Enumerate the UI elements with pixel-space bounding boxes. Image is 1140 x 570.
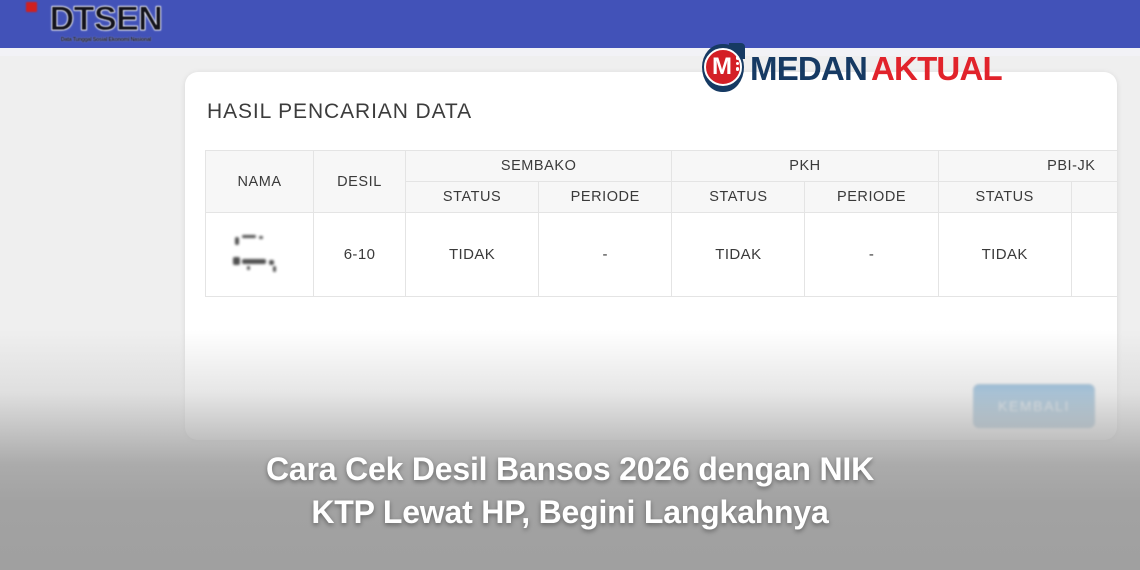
column-header-nama: NAMA [206, 151, 314, 213]
article-caption: Cara Cek Desil Bansos 2026 dengan NIK KT… [0, 448, 1140, 533]
cell-pbijk-status: TIDAK [938, 213, 1071, 297]
table-header-row-groups: NAMA DESIL SEMBAKO PKH PBI-JK [206, 151, 1118, 182]
cell-pbijk-periode: - [1071, 213, 1117, 297]
dtsen-red-mark-icon [26, 2, 37, 12]
medanaktual-logo-icon: M [700, 44, 746, 92]
column-header-pbijk: PBI-JK [938, 151, 1117, 182]
column-header-pkh: PKH [672, 151, 938, 182]
column-header-pbijk-status: STATUS [938, 182, 1071, 213]
page-title: HASIL PENCARIAN DATA [207, 100, 472, 124]
dtsen-logo: DTSEN Data Tunggal Sosial Ekonomi Nasion… [24, 0, 188, 48]
column-header-desil: DESIL [314, 151, 406, 213]
dtsen-logo-text: DTSEN [50, 3, 163, 35]
column-header-pkh-periode: PERIODE [805, 182, 938, 213]
caption-line-2: KTP Lewat HP, Begini Langkahnya [0, 491, 1140, 534]
censored-name-redaction [233, 233, 287, 273]
column-header-pkh-status: STATUS [672, 182, 805, 213]
cell-nama [206, 213, 314, 297]
cell-sembako-status: TIDAK [406, 213, 539, 297]
caption-line-1: Cara Cek Desil Bansos 2026 dengan NIK [0, 448, 1140, 491]
column-header-sembako-periode: PERIODE [539, 182, 672, 213]
table-head: NAMA DESIL SEMBAKO PKH PBI-JK STATUS PER… [206, 151, 1118, 213]
cell-pkh-periode: - [805, 213, 938, 297]
site-top-banner: DTSEN Data Tunggal Sosial Ekonomi Nasion… [0, 0, 1140, 48]
watermark-text-aktual: AKTUAL [871, 52, 1002, 85]
cell-desil: 6-10 [314, 213, 406, 297]
search-result-table: NAMA DESIL SEMBAKO PKH PBI-JK STATUS PER… [205, 150, 1117, 297]
watermark-text-medan: MEDAN [750, 52, 867, 85]
table-body: 6-10 TIDAK - TIDAK - TIDAK - [206, 213, 1118, 297]
table-row: 6-10 TIDAK - TIDAK - TIDAK - [206, 213, 1118, 297]
column-header-sembako: SEMBAKO [406, 151, 672, 182]
medanaktual-watermark: M MEDAN AKTUAL [700, 44, 1002, 92]
column-header-pbijk-periode: PERI [1071, 182, 1117, 213]
cell-sembako-periode: - [539, 213, 672, 297]
dtsen-logo-subtitle: Data Tunggal Sosial Ekonomi Nasional [61, 37, 151, 43]
cell-pkh-status: TIDAK [672, 213, 805, 297]
column-header-sembako-status: STATUS [406, 182, 539, 213]
